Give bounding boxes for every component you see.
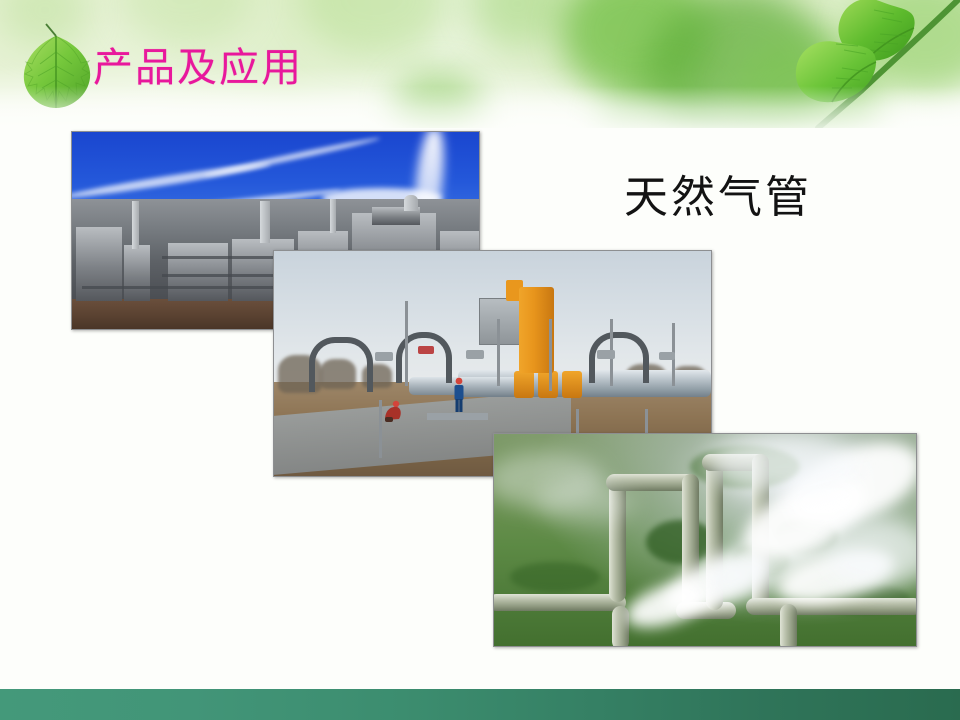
worker-figure-crouching <box>383 400 403 422</box>
pipe-segment <box>493 594 626 611</box>
foliage-blob <box>470 0 565 48</box>
foliage-blob <box>300 0 450 58</box>
worker-figure <box>451 377 467 413</box>
presentation-slide: 产品及应用 <box>0 0 960 720</box>
footer-bar <box>0 689 960 720</box>
steam-pipes-photo <box>493 433 917 647</box>
platform-bench <box>427 413 488 420</box>
control-cabinet <box>479 298 520 345</box>
page-title: 产品及应用 <box>93 42 303 94</box>
foliage-blob <box>120 0 250 48</box>
side-caption: 天然气管 <box>624 170 812 226</box>
pipe-support <box>780 604 797 647</box>
